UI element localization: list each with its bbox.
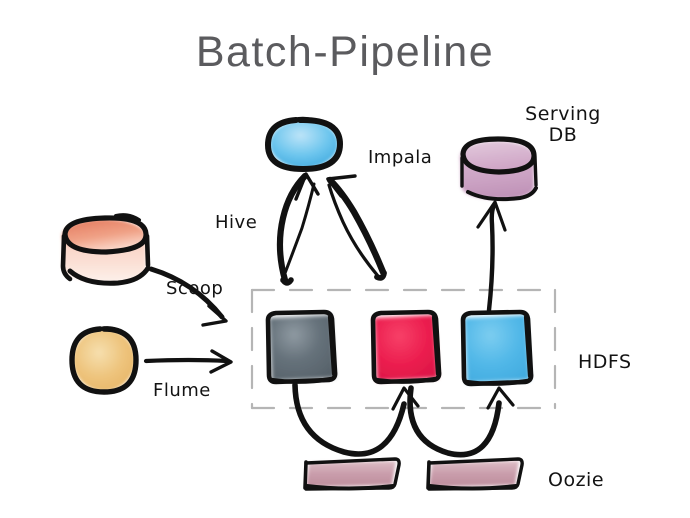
hdfs-block-gray [268, 312, 335, 382]
label-flume: Flume [153, 381, 211, 401]
label-oozie: Oozie [548, 470, 604, 491]
label-serving-db: Serving DB [508, 104, 618, 147]
hive-impala-ellipse [268, 119, 340, 169]
arrow-oozie-right [410, 388, 513, 455]
label-impala: Impala [368, 148, 432, 168]
hdfs-block-red [373, 312, 439, 382]
arrow-hive [280, 174, 318, 283]
label-scoop: Scoop [166, 279, 223, 299]
serving-db-cylinder [460, 139, 536, 199]
label-hive: Hive [215, 213, 257, 233]
diagram-graphics [0, 0, 690, 518]
hdfs-block-blue [463, 312, 531, 384]
arrow-flume [146, 351, 231, 372]
source-database-cylinder [62, 215, 148, 283]
arrow-oozie-left [295, 385, 418, 454]
source-stream-circle [72, 328, 136, 392]
label-hdfs: HDFS [578, 352, 632, 373]
diagram-canvas: Batch-Pipeline [0, 0, 690, 518]
arrow-serving-db [478, 202, 505, 310]
oozie-bar-left [305, 459, 399, 489]
arrow-impala [328, 176, 384, 278]
oozie-bar-right [428, 459, 522, 489]
